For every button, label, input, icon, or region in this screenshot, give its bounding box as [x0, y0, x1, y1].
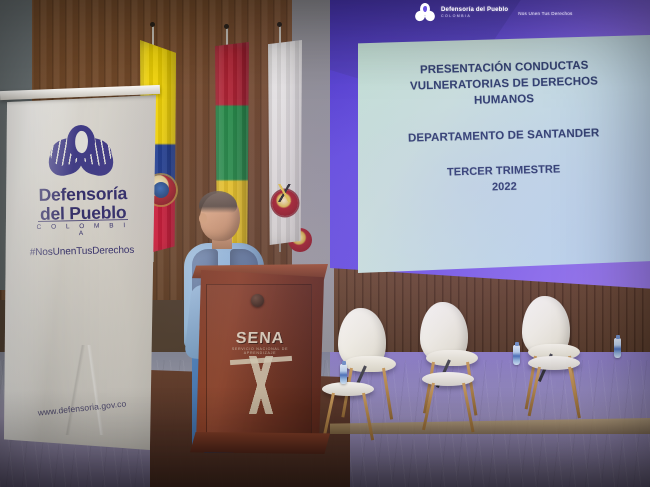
photo-scene: Defensoría del Pueblo COLOMBIA Nos Unen … — [0, 0, 650, 487]
sena-logo: SENA SERVICIO NACIONAL DE APRENDIZAJE — [222, 330, 298, 420]
speaker-ear — [199, 213, 207, 224]
banner-divider — [38, 219, 128, 222]
flagpole-finial-colombia — [150, 22, 155, 27]
table-top — [322, 382, 374, 396]
slide-header-tagline: Nos Unen Tus Derechos — [518, 11, 572, 16]
banner-hashtag: #NosUnenTusDerechos — [22, 245, 142, 259]
podium-base — [190, 432, 330, 454]
speaker-hair — [199, 191, 237, 213]
water-bottle — [340, 364, 347, 384]
defensoria-logo-icon — [48, 125, 114, 181]
slide-title-line-3: HUMANOS — [474, 92, 535, 110]
water-bottle — [614, 338, 621, 358]
sena-arrow-icon — [242, 356, 280, 414]
slide-content-panel: PRESENTACIÓN CONDUCTAS VULNERATORIAS DE … — [358, 35, 650, 273]
flagpole-finial-sena — [277, 22, 282, 27]
defensoria-logo-icon — [415, 3, 435, 23]
table-top — [422, 372, 474, 386]
slide-year: 2022 — [491, 179, 516, 195]
slide-header-org: Defensoría del Pueblo COLOMBIA — [441, 7, 508, 20]
banner-org-name: Defensoríadel Pueblo — [30, 184, 137, 223]
slide-header: Defensoría del Pueblo COLOMBIA Nos Unen … — [415, 0, 615, 26]
rollup-banner: Defensoríadel Pueblo C O L O M B I A #No… — [4, 95, 156, 450]
slide-subtitle: DEPARTAMENTO DE SANTANDER — [408, 126, 600, 147]
flagpole-finial-santander — [224, 24, 229, 29]
table-top — [528, 356, 580, 370]
banner-fabric-crease — [14, 345, 144, 435]
banner-country: C O L O M B I A — [30, 222, 136, 238]
slide-period: TERCER TRIMESTRE — [447, 163, 561, 181]
podium-knob — [251, 294, 264, 307]
slide-header-org-sub: COLOMBIA — [441, 14, 471, 18]
water-bottle — [513, 345, 520, 365]
sena-wordmark-sub: SERVICIO NACIONAL DE APRENDIZAJE — [222, 347, 298, 355]
banner-url: www.defensoria.gov.co — [18, 396, 146, 419]
sena-wordmark: SENA — [221, 330, 298, 348]
podium: SENA SERVICIO NACIONAL DE APRENDIZAJE — [196, 270, 324, 450]
